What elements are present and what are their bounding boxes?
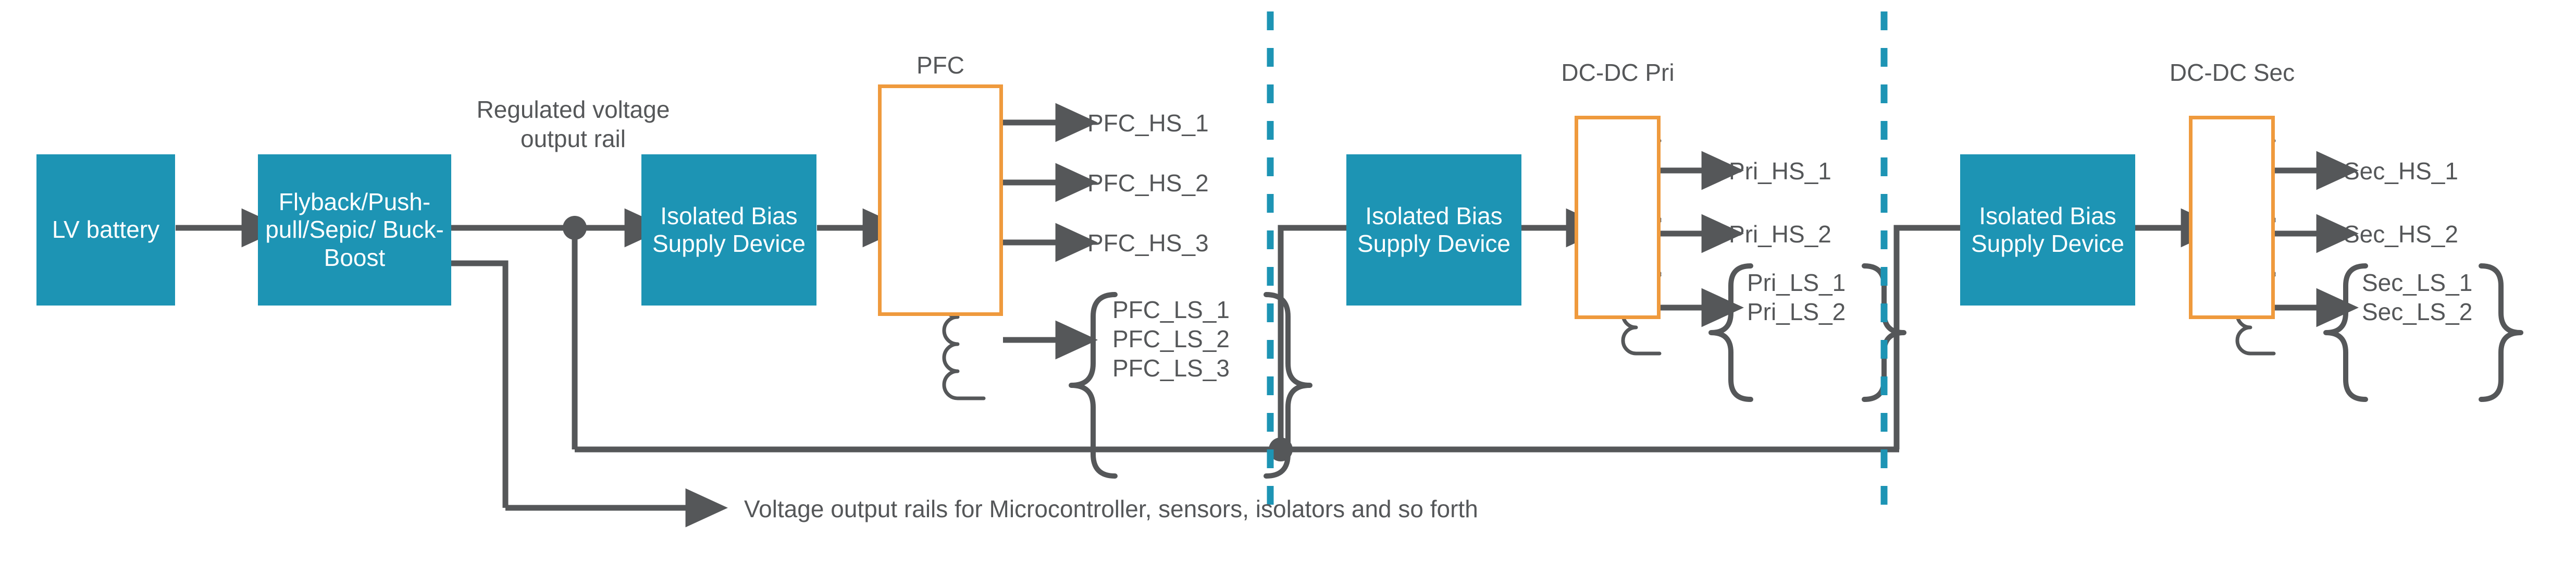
output-label-pfc-hs-2: PFC_HS_2 <box>1087 168 1209 198</box>
block-isolated-bias-supply-1[interactable]: Isolated Bias Supply Device <box>641 154 816 306</box>
block-diagram-canvas: LV battery Flyback/Push- pull/Sepic/ Buc… <box>0 0 2576 561</box>
output-group-sec-ls: Sec_LS_1 Sec_LS_2 <box>2362 268 2472 326</box>
brace-left-pri-ls <box>1711 266 1751 399</box>
output-label-sec-hs-1: Sec_HS_1 <box>2344 156 2458 186</box>
output-label-sec-hs-2: Sec_HS_2 <box>2344 219 2458 249</box>
annotation-aux-rails: Voltage output rails for Microcontroller… <box>744 494 1478 523</box>
output-label-pfc-hs-3: PFC_HS_3 <box>1087 228 1209 258</box>
junction-dot-rail <box>563 216 587 240</box>
transformer-box-pfc[interactable] <box>878 84 1003 316</box>
transformer-title-dcdc-pri: DC-DC Pri <box>1534 58 1701 87</box>
wire-riser-bias3 <box>1897 228 1943 449</box>
wire-aux-tap <box>451 263 505 508</box>
block-isolated-bias-supply-3[interactable]: Isolated Bias Supply Device <box>1960 154 2135 306</box>
transformer-box-dcdc-pri[interactable] <box>1575 116 1661 319</box>
transformer-title-dcdc-sec: DC-DC Sec <box>2149 58 2315 87</box>
block-isolated-bias-supply-2-label: Isolated Bias Supply Device <box>1351 202 1517 258</box>
transformer-title-pfc: PFC <box>857 51 1024 79</box>
block-lv-battery[interactable]: LV battery <box>36 154 175 306</box>
output-label-pfc-hs-1: PFC_HS_1 <box>1087 108 1209 138</box>
output-label-pri-hs-1: Pri_HS_1 <box>1729 156 1831 186</box>
output-group-pri-ls: Pri_LS_1 Pri_LS_2 <box>1747 268 1846 326</box>
block-isolated-bias-supply-1-label: Isolated Bias Supply Device <box>646 202 812 258</box>
block-isolated-bias-supply-3-label: Isolated Bias Supply Device <box>1964 202 2131 258</box>
brace-left-sec-ls <box>2326 266 2366 399</box>
brace-right-sec-ls <box>2481 266 2521 399</box>
block-converter-label: Flyback/Push- pull/Sepic/ Buck-Boost <box>262 188 447 272</box>
block-lv-battery-label: LV battery <box>41 216 171 243</box>
output-group-pfc-ls: PFC_LS_1 PFC_LS_2 PFC_LS_3 <box>1112 295 1230 383</box>
output-label-pri-hs-2: Pri_HS_2 <box>1729 219 1831 249</box>
annotation-regulated-rail: Regulated voltage output rail <box>396 95 750 153</box>
block-isolated-bias-supply-2[interactable]: Isolated Bias Supply Device <box>1346 154 1521 306</box>
transformer-box-dcdc-sec[interactable] <box>2189 116 2275 319</box>
block-converter[interactable]: Flyback/Push- pull/Sepic/ Buck-Boost <box>258 154 451 306</box>
